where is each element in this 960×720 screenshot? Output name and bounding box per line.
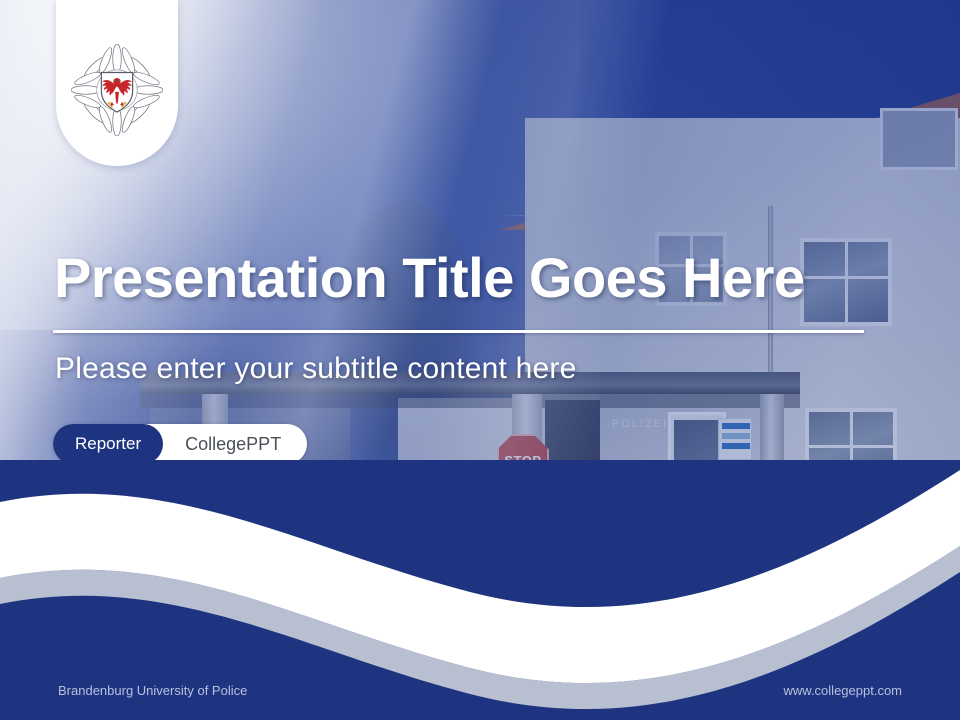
reporter-label: Reporter bbox=[53, 424, 163, 464]
page-subtitle: Please enter your subtitle content here bbox=[55, 352, 576, 386]
logo-tab bbox=[56, 0, 178, 166]
footer-website[interactable]: www.collegeppt.com bbox=[784, 683, 903, 698]
wave-svg bbox=[0, 460, 960, 720]
reporter-pill[interactable]: Reporter CollegePPT bbox=[53, 424, 307, 464]
title-divider bbox=[53, 330, 864, 333]
title-slide: POLIZEI STOP bbox=[0, 0, 960, 720]
reporter-name: CollegePPT bbox=[163, 434, 307, 455]
footer-organization: Brandenburg University of Police bbox=[58, 683, 247, 698]
page-title: Presentation Title Goes Here bbox=[54, 248, 914, 308]
bottom-wave-decoration bbox=[0, 460, 960, 720]
brandenburg-police-star-badge-icon bbox=[71, 44, 163, 136]
